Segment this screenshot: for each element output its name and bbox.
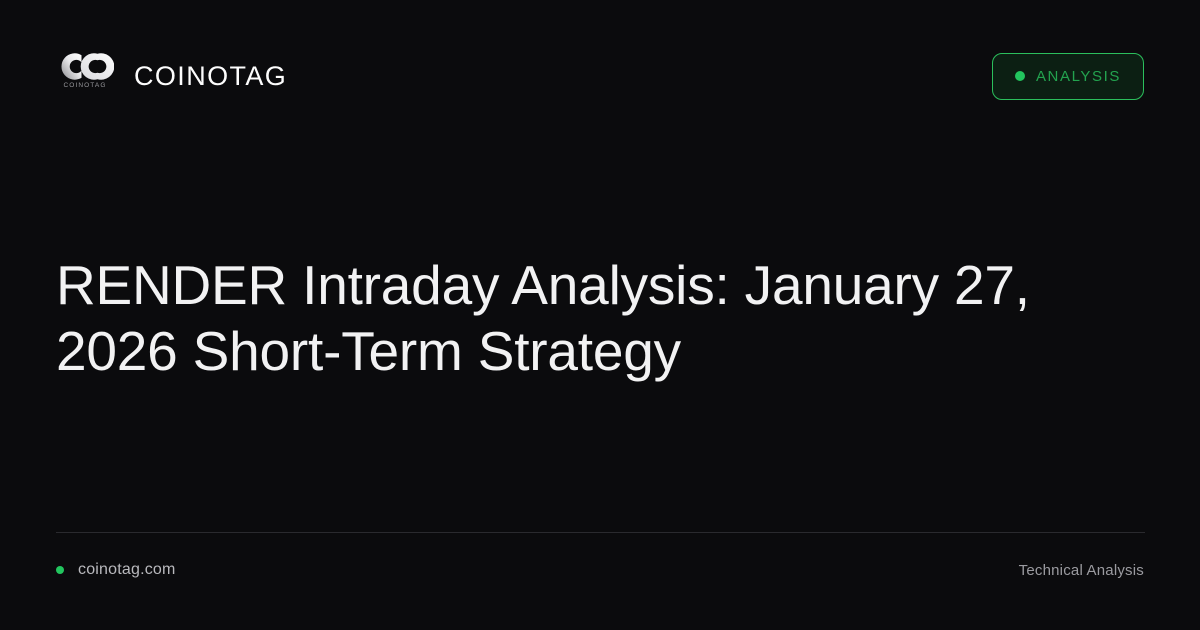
header: COINOTAG COINOTAG ANALYSIS xyxy=(56,46,1144,106)
page-title: RENDER Intraday Analysis: January 27, 20… xyxy=(56,252,1126,384)
share-card: COINOTAG COINOTAG ANALYSIS RENDER Intrad… xyxy=(0,0,1200,630)
footer-divider xyxy=(56,532,1145,533)
logo-microtext: COINOTAG xyxy=(64,83,107,90)
brand-wordmark: COINOTAG xyxy=(134,63,287,90)
footer-category: Technical Analysis xyxy=(1019,562,1144,579)
footer: coinotag.com Technical Analysis xyxy=(56,556,1144,584)
brand-logo[interactable]: COINOTAG COINOTAG xyxy=(56,53,287,99)
coinotag-co-monogram-icon: COINOTAG xyxy=(56,53,114,99)
status-dot-icon xyxy=(1015,71,1025,81)
status-badge[interactable]: ANALYSIS xyxy=(992,53,1144,100)
title-block: RENDER Intraday Analysis: January 27, 20… xyxy=(56,252,1144,384)
footer-site-group[interactable]: coinotag.com xyxy=(56,561,176,579)
footer-site-url: coinotag.com xyxy=(78,561,176,579)
status-badge-label: ANALYSIS xyxy=(1036,68,1121,85)
bullet-dot-icon xyxy=(56,566,64,574)
